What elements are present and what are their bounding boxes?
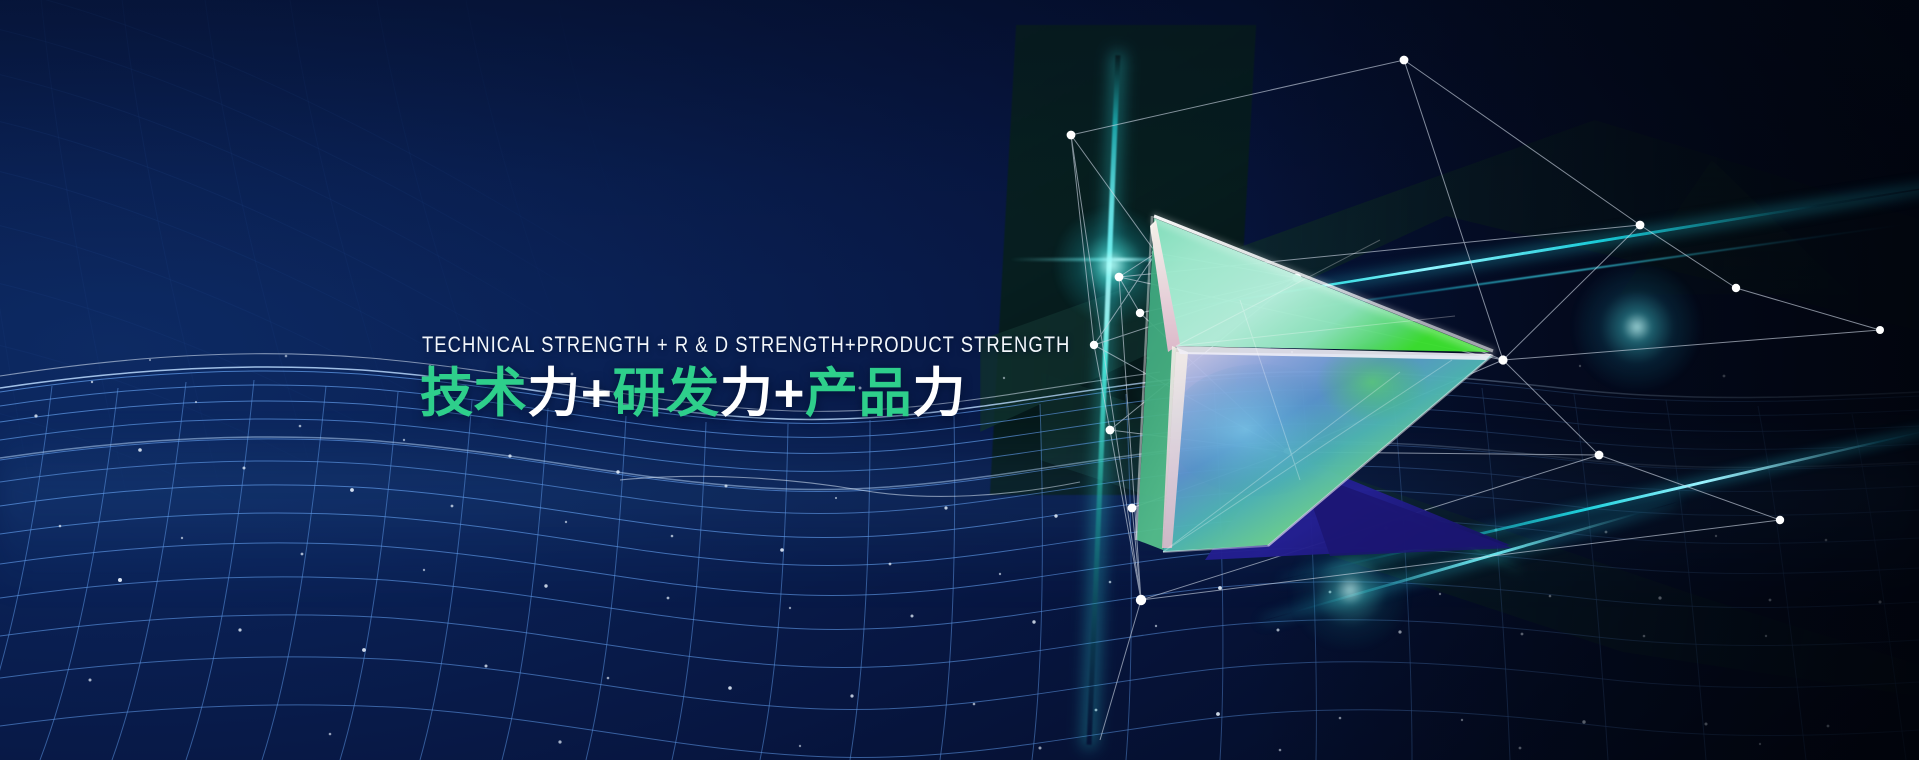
headline-segment: 研发 [613, 364, 720, 423]
headline-text-block: TECHNICAL STRENGTH + R & D STRENGTH+PROD… [420, 333, 1213, 423]
headline-segment: 力 [912, 364, 966, 423]
background-perspective-grid [0, 0, 940, 580]
headline-segment: + [581, 364, 613, 423]
headline-segment: 力 [527, 364, 581, 423]
headline-segment: 力 [720, 364, 774, 423]
mesh-glow [0, 420, 1919, 600]
lens-flare-bottom [1290, 530, 1410, 650]
lens-flare-right [1572, 262, 1702, 392]
lens-flare-beam [1052, 205, 1172, 325]
headline-segment: + [773, 364, 805, 423]
headline-segment: 技术 [420, 364, 527, 423]
eyebrow-text: TECHNICAL STRENGTH + R & D STRENGTH+PROD… [422, 333, 1070, 358]
headline-segment: 产品 [805, 364, 912, 423]
page-title: 技术力+研发力+产品力 [420, 364, 1213, 423]
lens-flare-horizontal [1010, 258, 1225, 261]
tech-strength-banner: TECHNICAL STRENGTH + R & D STRENGTH+PROD… [0, 0, 1919, 760]
